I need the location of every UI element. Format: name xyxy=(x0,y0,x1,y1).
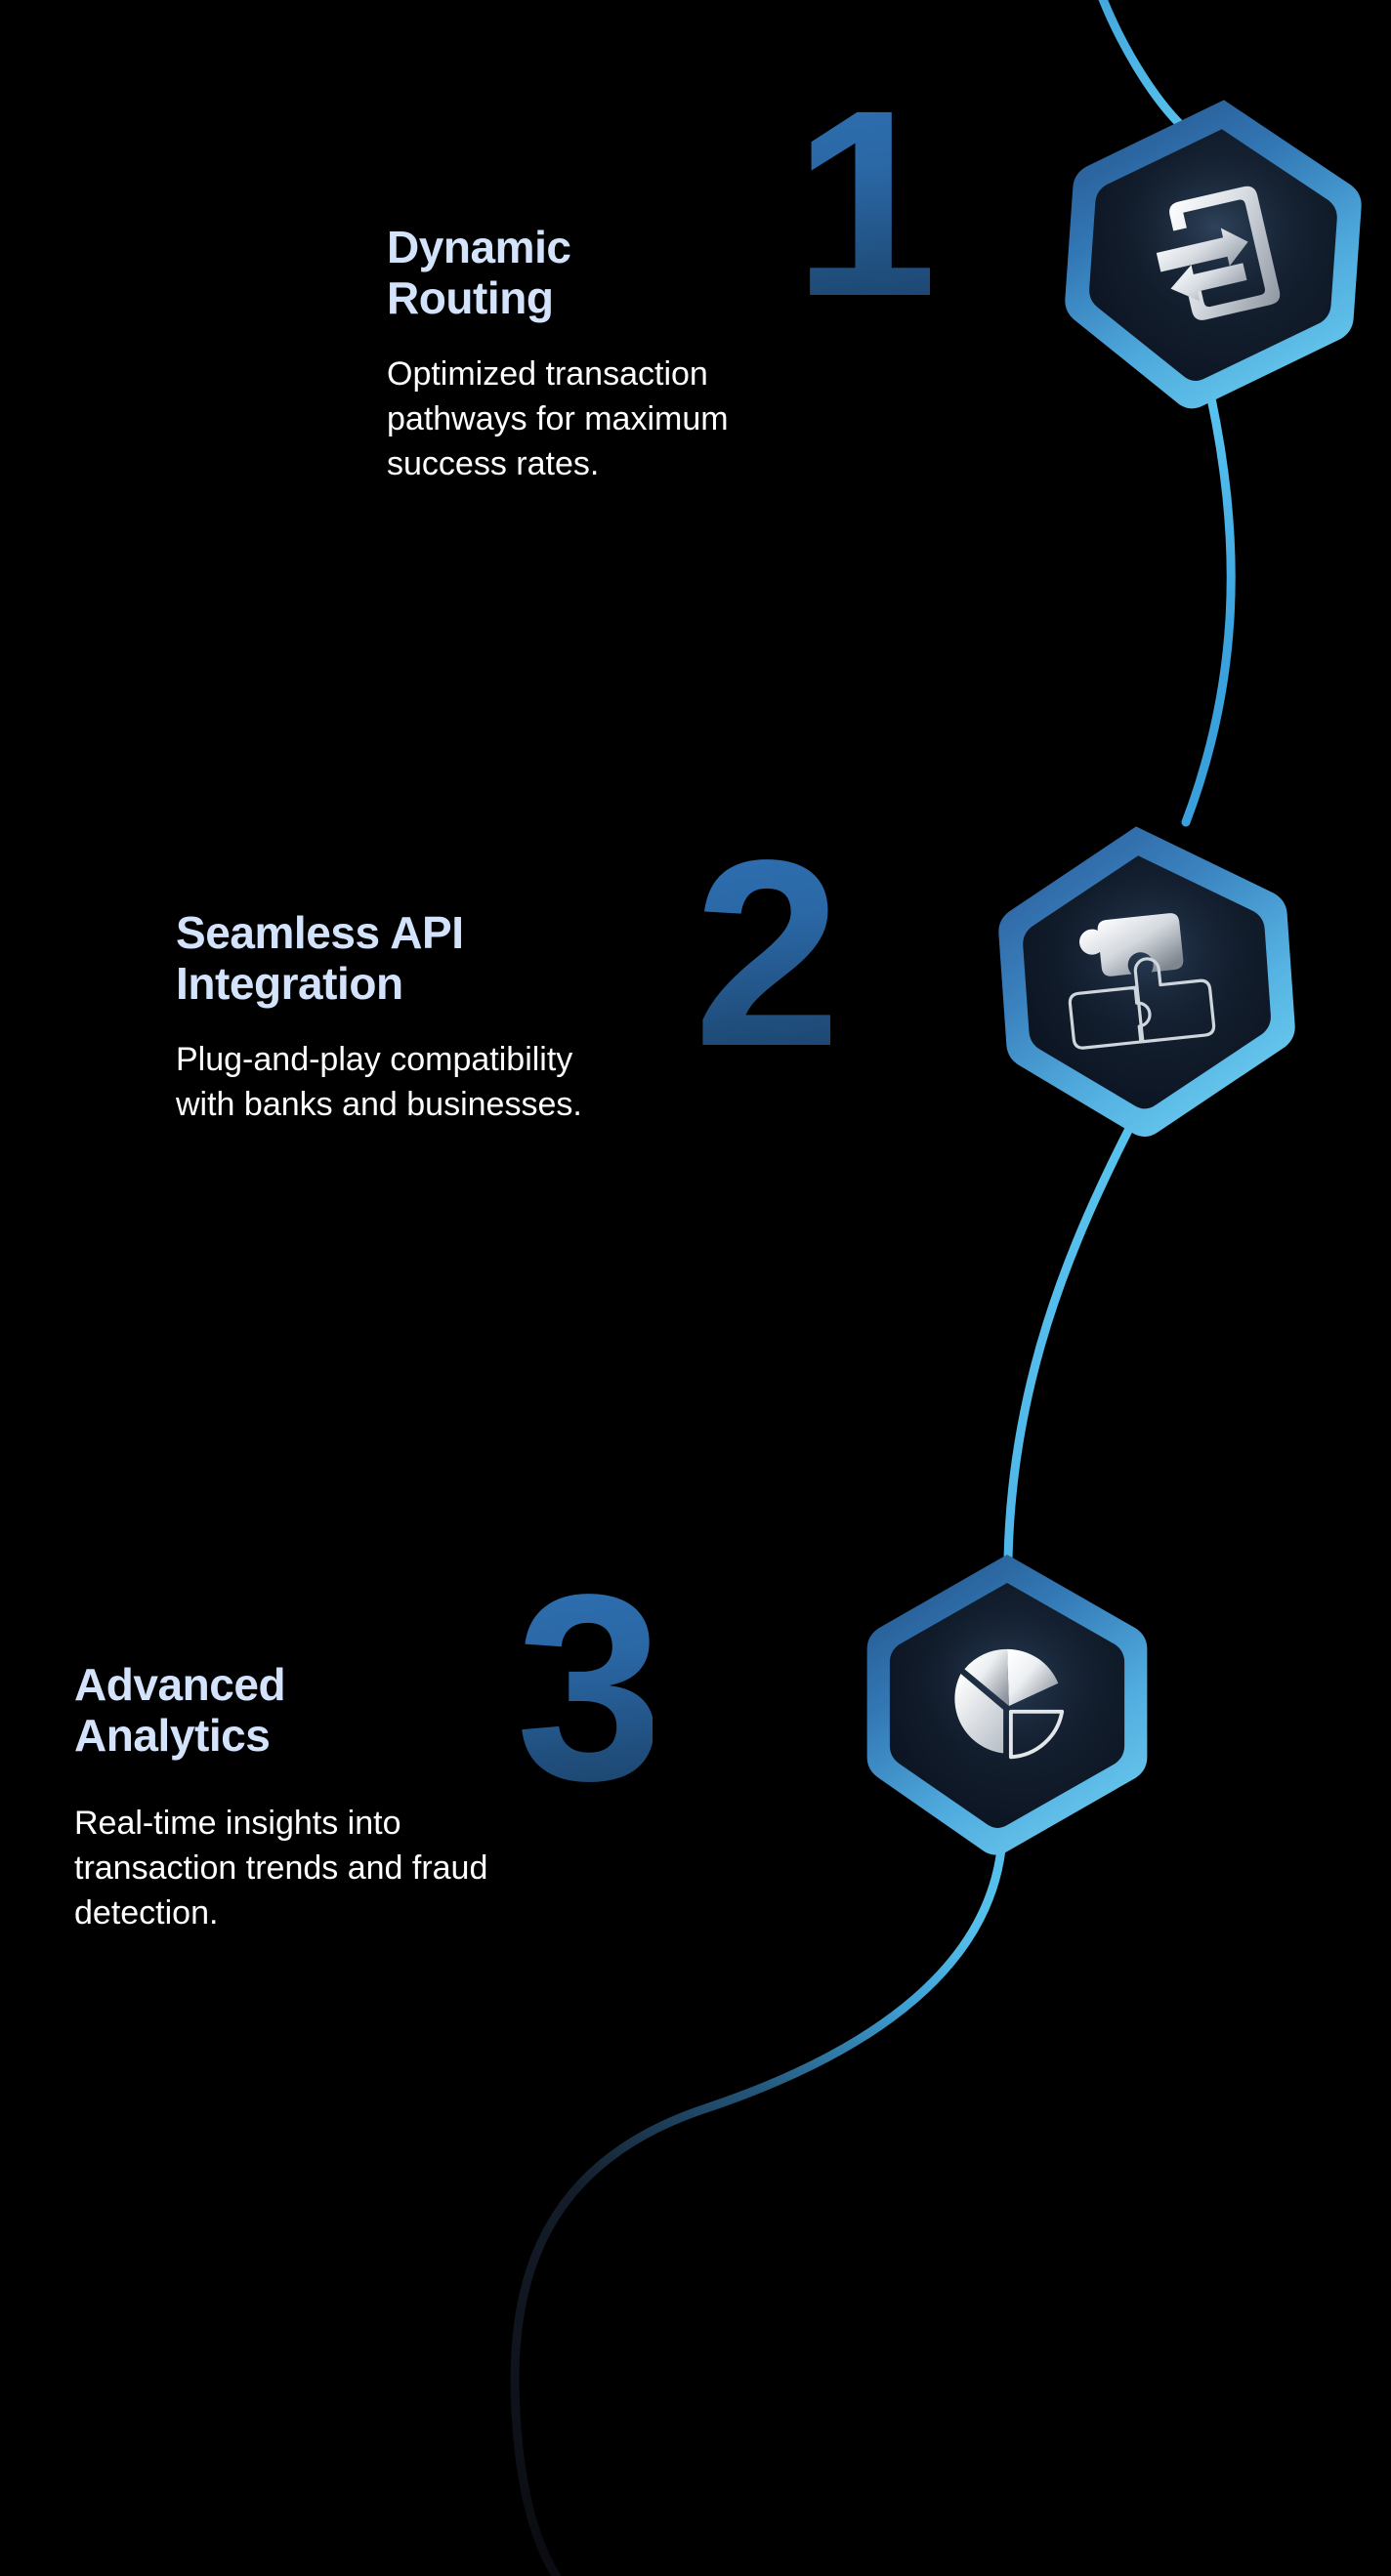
step-description-2: Plug-and-play compatibility with banks a… xyxy=(176,1038,781,1128)
step-badge-3[interactable] xyxy=(856,1549,1159,1861)
step-number-3: 3 xyxy=(516,1555,653,1820)
feature-steps-section: Dynamic Routing Optimized transaction pa… xyxy=(0,0,1391,2576)
connector-segment-tail xyxy=(515,1840,1002,2576)
step-number-1: 1 xyxy=(793,70,930,336)
step-title-2: Seamless API Integration xyxy=(176,908,781,1009)
step-badge-1[interactable] xyxy=(1057,94,1370,416)
connector-segment-2-3 xyxy=(1008,1121,1133,1558)
step-badge-2[interactable] xyxy=(991,820,1303,1143)
step-description-1: Optimized transaction pathways for maxim… xyxy=(387,353,895,487)
step-block-2: Seamless API Integration Plug-and-play c… xyxy=(176,908,781,1128)
step-number-2: 2 xyxy=(694,820,830,1086)
connector-segment-1-2 xyxy=(1186,398,1231,822)
